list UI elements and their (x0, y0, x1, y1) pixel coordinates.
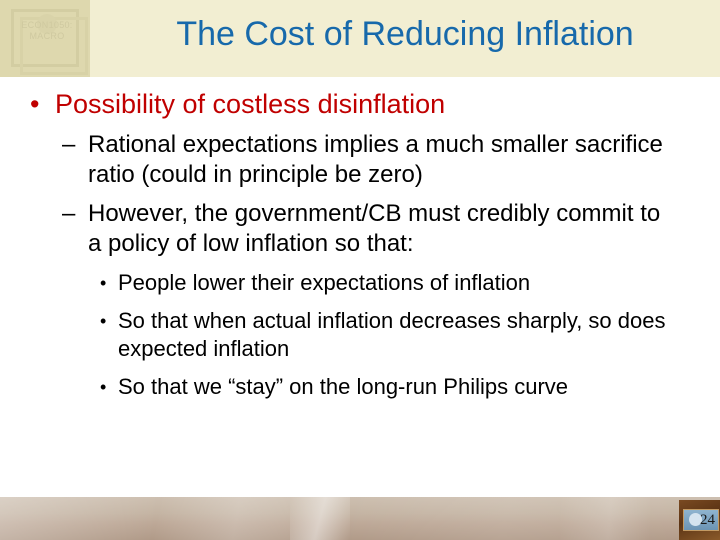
dash-marker-icon: – (62, 130, 75, 160)
slide-body: • Possibility of costless disinflation –… (0, 77, 720, 497)
bullet-text: However, the government/CB must credibly… (88, 200, 660, 257)
dash-marker-icon: – (62, 199, 75, 229)
bullet-marker-icon: • (100, 307, 106, 335)
course-logo-line-2: MACRO (12, 31, 82, 42)
bullet-text: So that we “stay” on the long-run Philip… (118, 374, 568, 399)
presentation-slide: ECON1050: MACRO The Cost of Reducing Inf… (0, 0, 720, 540)
bullet-text: So that when actual inflation decreases … (118, 308, 665, 361)
bullet-text: Rational expectations implies a much sma… (88, 131, 663, 188)
bullet-marker-icon: • (100, 373, 106, 401)
bullet-level2: – Rational expectations implies a much s… (0, 130, 720, 190)
slide-header-band: ECON1050: MACRO The Cost of Reducing Inf… (0, 0, 720, 77)
bullet-level3: • So that when actual inflation decrease… (0, 307, 720, 363)
bullet-level3: • So that we “stay” on the long-run Phil… (0, 373, 720, 401)
page-title: The Cost of Reducing Inflation (95, 13, 715, 55)
bullet-text: People lower their expectations of infla… (118, 270, 530, 295)
bullet-level2: – However, the government/CB must credib… (0, 199, 720, 259)
course-logo: ECON1050: MACRO (0, 0, 90, 77)
slide-number: 24 (700, 511, 715, 529)
slide-number-thumbnail: 24 (679, 500, 720, 540)
bullet-marker-icon: • (100, 269, 106, 297)
footer-seam-highlight (290, 497, 350, 540)
course-logo-line-1: ECON1050: (12, 20, 82, 31)
slide-footer-band (0, 497, 720, 540)
course-logo-text: ECON1050: MACRO (12, 20, 82, 42)
bullet-marker-icon: • (30, 87, 39, 121)
bullet-level1: • Possibility of costless disinflation (0, 87, 720, 121)
bullet-level3: • People lower their expectations of inf… (0, 269, 720, 297)
footer-seam-highlight-secondary (560, 497, 650, 540)
bullet-text: Possibility of costless disinflation (55, 89, 445, 119)
